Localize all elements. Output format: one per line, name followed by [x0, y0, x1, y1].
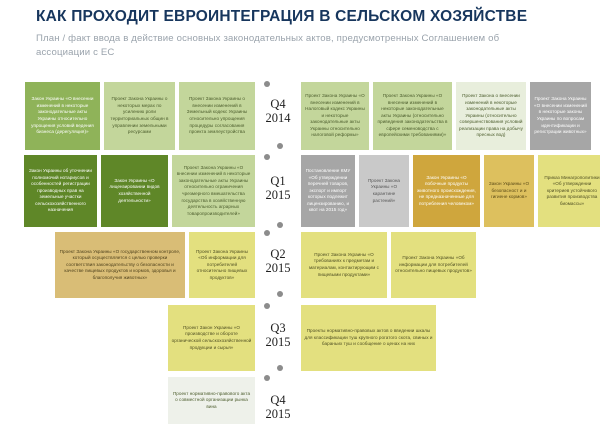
timeline-row-q2-2015: Q2 2015 Проект Закона Украины «О государ… [0, 230, 600, 302]
quarter-label-q2-2015: Q2 2015 [255, 247, 301, 276]
quarter-year: 2014 [255, 111, 301, 125]
quarter-name: Q4 [255, 97, 301, 111]
quarter-name: Q4 [255, 393, 301, 407]
left-cards-q1-2015: Закон Украины об уточнении полномочий но… [24, 155, 255, 227]
timeline-row-q4-2015: Q4 2015 Проект нормативно-правового акта… [0, 374, 600, 424]
act-card-text: Проект Закона Украины о внесении изменен… [182, 96, 252, 135]
act-card-text: Проект Закона Украины «О государственном… [58, 249, 182, 282]
act-card[interactable]: Закон Украины об уточнении полномочий но… [24, 155, 97, 227]
timeline-dot [277, 143, 283, 149]
timeline-dot [264, 230, 270, 236]
left-cards-q4-2015: Проект нормативно-правового акта о совме… [168, 377, 255, 424]
right-cards-q2-2015: Проект Закона Украины «О требованиях к п… [301, 232, 476, 298]
act-card[interactable]: Постановление КМУ «Об утверждении перечн… [301, 155, 355, 227]
act-card[interactable]: Проект Закона Украины «О государственном… [55, 232, 185, 298]
act-card[interactable]: Проект Закона Украины «О требованиях к п… [301, 232, 387, 298]
act-card[interactable]: Проект Закона Украины «Об информации для… [391, 232, 476, 298]
act-card-text: Закон Украины «О побочные продукты живот… [416, 175, 477, 208]
act-card[interactable]: Проект Закона Украины «Об информации для… [189, 232, 255, 298]
act-card-text: Закон Украины «О безопасност и и гигиене… [487, 181, 531, 201]
act-card[interactable]: Закон Украины «О безопасност и и гигиене… [484, 155, 534, 227]
quarter-name: Q3 [255, 321, 301, 335]
act-card-text: Закон Украины «О лицензировании видов хо… [104, 178, 165, 204]
act-card-text: Проект Закона Украины «О требованиях к п… [304, 252, 384, 278]
act-card[interactable]: Приказ Минагрополитики «Об утверждении к… [538, 155, 600, 227]
quarter-label-q4-2014: Q4 2014 [255, 97, 301, 126]
act-card-text: Проект Закона Украины «О внесении измене… [175, 165, 252, 217]
timeline-row-q3-2015: Q3 2015 Проект Закон Украины «О производ… [0, 302, 600, 374]
act-card-text: Проекты нормативно-правовых актов о введ… [304, 328, 433, 348]
act-card-text: Проект Закона Украины «О внесении измене… [533, 96, 588, 135]
act-card[interactable]: Проект Закона Украины «О карантине расте… [359, 155, 409, 227]
act-card-text: Проект Закона Украины «Об информации для… [394, 255, 473, 275]
timeline-row-q4-2014: Q4 2014 Закон Украины «О внесении измене… [0, 78, 600, 152]
quarter-year: 2015 [255, 407, 301, 421]
header: КАК ПРОХОДИТ ЕВРОИНТЕГРАЦИЯ В СЕЛЬСКОМ Х… [36, 8, 581, 60]
timeline-dot [264, 375, 270, 381]
act-card[interactable]: Проект нормативно-правового акта о совме… [168, 377, 255, 424]
act-card-text: Проект Закона о внесении изменений в нек… [459, 93, 523, 139]
act-card[interactable]: Проект Закона Украины «О внесении измене… [373, 82, 452, 150]
act-card-text: Закон Украины об уточнении полномочий но… [27, 168, 94, 214]
timeline-dot [277, 291, 283, 297]
act-card[interactable]: Проект Закона Украины о некоторых мерах … [104, 82, 175, 150]
page-subtitle: План / факт ввода в действие основных за… [36, 32, 556, 60]
timeline-dot [264, 154, 270, 160]
act-card[interactable]: Проект Закона Украины «О внесении измене… [530, 82, 591, 150]
act-card-text: Проект Закона Украины «О внесении измене… [304, 93, 366, 139]
timeline-dot [277, 365, 283, 371]
act-card-text: Постановление КМУ «Об утверждении перечн… [304, 168, 352, 214]
quarter-label-q1-2015: Q1 2015 [255, 174, 301, 203]
act-card[interactable]: Закон Украины «О лицензировании видов хо… [101, 155, 168, 227]
quarter-year: 2015 [255, 335, 301, 349]
act-card-text: Проект Закона Украины «Об информации для… [192, 249, 252, 282]
act-card-text: Проект Закон Украины «О производстве и о… [171, 325, 252, 351]
act-card[interactable]: Проект Закона Украины «О внесении измене… [301, 82, 369, 150]
act-card[interactable]: Закон Украины «О побочные продукты живот… [413, 155, 480, 227]
right-cards-q4-2014: Проект Закона Украины «О внесении измене… [301, 82, 591, 150]
timeline-dot [264, 81, 270, 87]
act-card[interactable]: Проект Закона Украины о внесении изменен… [179, 82, 255, 150]
act-card-text: Проект Закона Украины «О внесении измене… [376, 93, 449, 139]
quarter-name: Q2 [255, 247, 301, 261]
timeline-row-q1-2015: Q1 2015 Закон Украины об уточнении полно… [0, 152, 600, 230]
quarter-year: 2015 [255, 188, 301, 202]
act-card-text: Проект Закона Украины «О карантине расте… [362, 178, 406, 204]
timeline-dot [264, 303, 270, 309]
act-card[interactable]: Проекты нормативно-правовых актов о введ… [301, 305, 436, 371]
quarter-label-q4-2015: Q4 2015 [255, 393, 301, 422]
act-card-text: Закон Украины «О внесении изменений в не… [28, 96, 97, 135]
left-cards-q4-2014: Закон Украины «О внесении изменений в не… [25, 82, 255, 150]
quarter-label-q3-2015: Q3 2015 [255, 321, 301, 350]
act-card[interactable]: Проект Закон Украины «О производстве и о… [168, 305, 255, 371]
act-card-text: Приказ Минагрополитики «Об утверждении к… [541, 175, 600, 208]
act-card-text: Проект Закона Украины о некоторых мерах … [107, 96, 172, 135]
right-cards-q1-2015: Постановление КМУ «Об утверждении перечн… [301, 155, 600, 227]
page-title: КАК ПРОХОДИТ ЕВРОИНТЕГРАЦИЯ В СЕЛЬСКОМ Х… [36, 8, 581, 26]
left-cards-q3-2015: Проект Закон Украины «О производстве и о… [168, 305, 255, 371]
act-card-text: Проект нормативно-правового акта о совме… [171, 391, 252, 411]
quarter-year: 2015 [255, 261, 301, 275]
act-card[interactable]: Проект Закона Украины «О внесении измене… [172, 155, 255, 227]
left-cards-q2-2015: Проект Закона Украины «О государственном… [55, 232, 255, 298]
timeline-dot [277, 222, 283, 228]
quarter-name: Q1 [255, 174, 301, 188]
right-cards-q3-2015: Проекты нормативно-правовых актов о введ… [301, 305, 436, 371]
timeline: Q4 2014 Закон Украины «О внесении измене… [0, 78, 600, 424]
act-card[interactable]: Закон Украины «О внесении изменений в не… [25, 82, 100, 150]
act-card[interactable]: Проект Закона о внесении изменений в нек… [456, 82, 526, 150]
infographic-timeline: КАК ПРОХОДИТ ЕВРОИНТЕГРАЦИЯ В СЕЛЬСКОМ Х… [0, 0, 600, 402]
